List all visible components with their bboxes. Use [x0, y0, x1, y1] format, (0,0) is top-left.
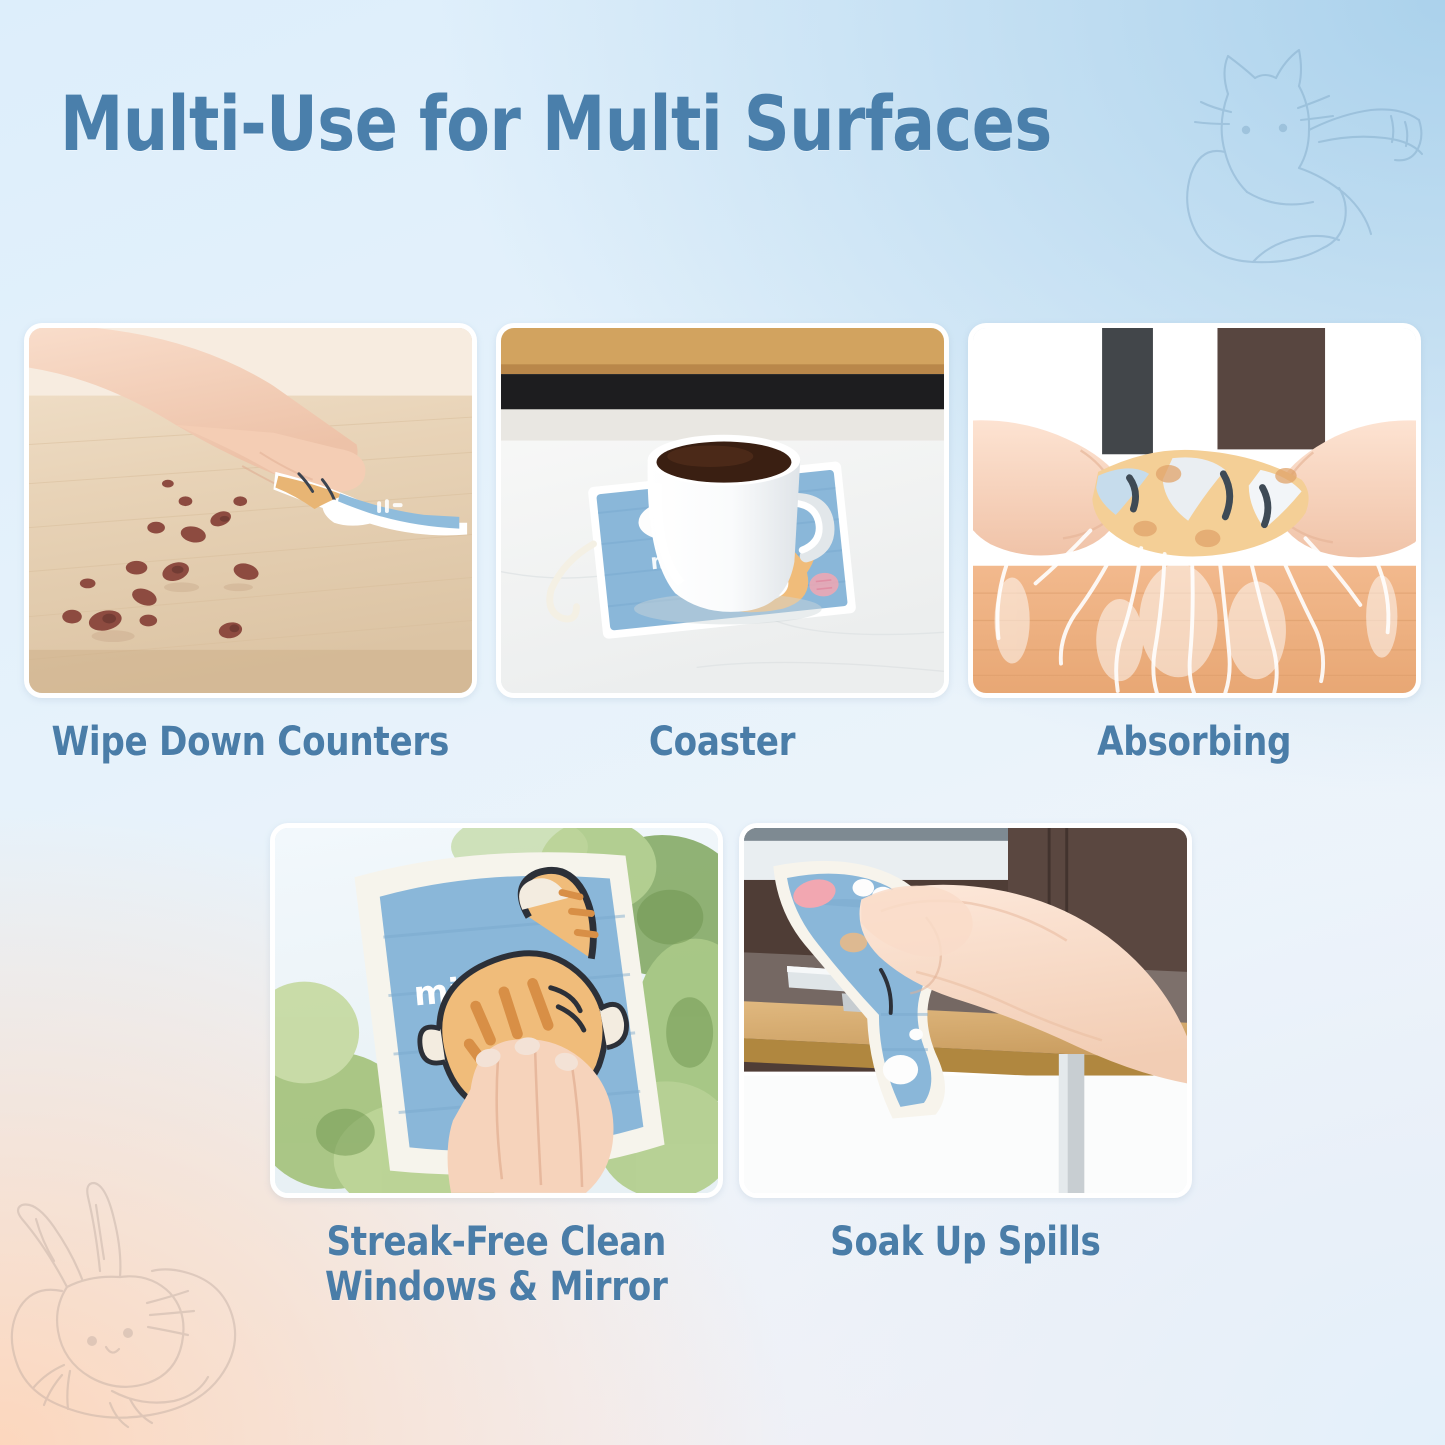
caption-line: Coaster [649, 720, 795, 765]
caption-line: Wipe Down Counters [52, 720, 450, 765]
feature-cell-coaster: mi~ [496, 323, 949, 765]
caption-coaster: Coaster [649, 720, 795, 765]
streak-free-clean-photo: mi~ [270, 823, 723, 1198]
caption-line: Windows & Mirror [325, 1265, 668, 1310]
infographic-page: Multi-Use for Multi Surfaces [0, 0, 1445, 1445]
caption-line: Absorbing [1097, 720, 1291, 765]
feature-cell-soak-up-spills: Soak Up Spills [739, 823, 1192, 1310]
caption-soak-up-spills: Soak Up Spills [830, 1220, 1101, 1265]
caption-absorbing: Absorbing [1097, 720, 1291, 765]
page-title: Multi-Use for Multi Surfaces [60, 86, 1052, 162]
feature-cell-wipe-down-counters: Wipe Down Counters [24, 323, 477, 765]
absorbing-photo [968, 323, 1421, 698]
caption-wipe-down-counters: Wipe Down Counters [52, 720, 450, 765]
bunny-line-art-icon [0, 1175, 292, 1445]
cat-line-art-icon [1173, 34, 1423, 264]
feature-cell-streak-free-clean: mi~ [270, 823, 723, 1310]
soak-up-spills-photo [739, 823, 1192, 1198]
wipe-down-counters-photo [24, 323, 477, 698]
caption-streak-free-clean: Streak-Free Clean Windows & Mirror [325, 1220, 668, 1310]
top-row: Wipe Down Counters [24, 323, 1421, 765]
bottom-row: mi~ [270, 823, 1190, 1310]
caption-line: Streak-Free Clean [325, 1220, 668, 1265]
caption-line: Soak Up Spills [830, 1220, 1101, 1265]
feature-cell-absorbing: Absorbing [968, 323, 1421, 765]
coaster-photo: mi~ [496, 323, 949, 698]
